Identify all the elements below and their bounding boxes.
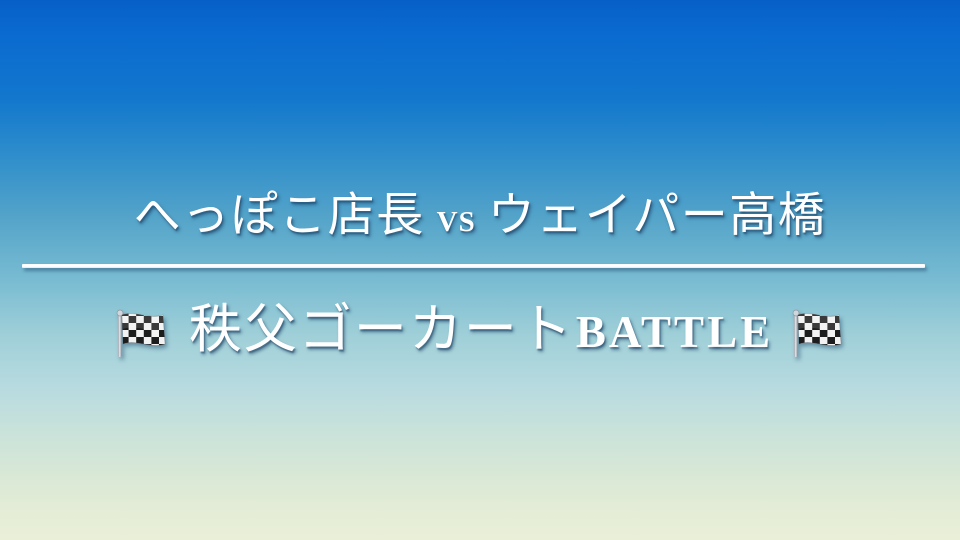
- title-divider-rule: [22, 264, 925, 268]
- headline-versus-line: へっぽこ店長vsウェイパー高橋: [0, 185, 960, 247]
- checkered-flag-icon: [111, 307, 173, 359]
- event-name-japanese: 秩父ゴーカート: [189, 301, 574, 359]
- title-card: へっぽこ店長vsウェイパー高橋: [0, 0, 960, 540]
- versus-label: vs: [425, 194, 488, 240]
- event-name-latin: BATTLE: [576, 307, 773, 357]
- headline-event-line: 秩父ゴーカートBATTLE: [0, 290, 960, 370]
- title-block: へっぽこ店長vsウェイパー高橋: [0, 0, 960, 540]
- competitor-right-name: ウェイパー高橋: [488, 190, 827, 242]
- competitor-left-name: へっぽこ店長: [134, 190, 425, 242]
- checkered-flag-icon: [787, 307, 849, 359]
